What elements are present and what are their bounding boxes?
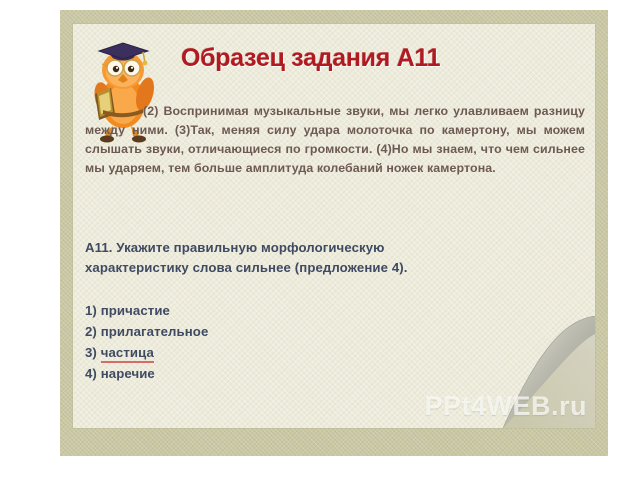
answer-options-list: 1) причастие 2) прилагательное 3) частиц… — [85, 300, 385, 384]
watermark: PPt4WEB.ru — [424, 391, 587, 422]
question-line-2: характеристику слова сильнее (предложени… — [85, 258, 515, 278]
answer-option-3-number: 3) — [85, 345, 101, 360]
answer-option-2-number: 2) — [85, 324, 101, 339]
answer-option-2-label: прилагательное — [101, 324, 209, 339]
question-block: А11. Укажите правильную морфологическую … — [85, 238, 515, 278]
passage-text: (2) Воспринимая музыкальные звуки, мы ле… — [85, 102, 585, 178]
answer-option-1[interactable]: 1) причастие — [85, 300, 385, 321]
answer-option-3-label: частица — [101, 345, 154, 363]
answer-option-1-number: 1) — [85, 303, 101, 318]
slide-frame: Образец задания А11 (2) Воспринимая музы… — [60, 10, 608, 456]
slide-content-panel: Образец задания А11 (2) Воспринимая музы… — [73, 24, 595, 428]
answer-option-2[interactable]: 2) прилагательное — [85, 321, 385, 342]
answer-option-1-label: причастие — [101, 303, 170, 318]
answer-option-4-number: 4) — [85, 366, 101, 381]
answer-option-3[interactable]: 3) частица — [85, 342, 385, 363]
answer-option-4[interactable]: 4) наречие — [85, 363, 385, 384]
page-title: Образец задания А11 — [181, 44, 440, 73]
question-line-1: А11. Укажите правильную морфологическую — [85, 238, 515, 258]
answer-option-4-label: наречие — [101, 366, 155, 381]
